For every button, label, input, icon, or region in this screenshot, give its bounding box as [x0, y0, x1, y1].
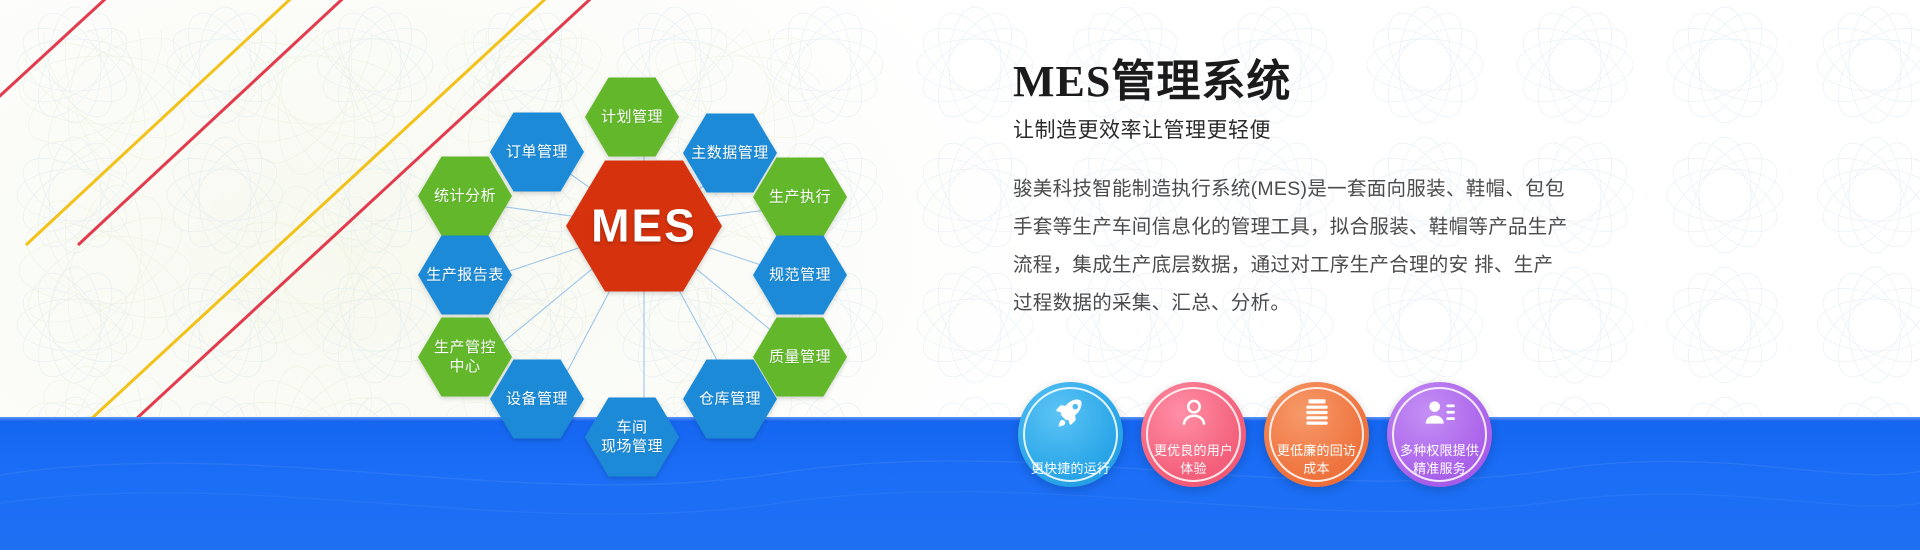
badge-better-user-experience[interactable]: 更优良的用户体验 [1141, 382, 1246, 487]
hex-workshop-site-management-shape[interactable] [585, 398, 679, 477]
center-hex-mes-shape[interactable] [566, 161, 722, 292]
description-paragraph: 骏美科技智能制造执行系统(MES)是一套面向服装、鞋帽、包包手套等生产车间信息化… [1013, 170, 1573, 322]
badge-better-user-experience-label: 更优良的用户体验 [1148, 442, 1240, 478]
hex-standard-management-shape[interactable] [753, 236, 847, 315]
copy-block: MES管理系统 让制造更效率让管理更轻便 骏美科技智能制造执行系统(MES)是一… [1013, 56, 1633, 322]
hex-production-control-center-shape[interactable] [418, 318, 512, 397]
mes-promo-banner: 计划管理订单管理主数据管理统计分析生产执行生产报告表规范管理生产管控中心质量管理… [0, 0, 1920, 550]
page-title: MES管理系统 [1013, 56, 1633, 108]
badge-multi-permission-service-label: 多种权限提供精准服务 [1394, 442, 1486, 478]
feature-badge-row: 更快捷的运行更优良的用户体验¥更低廉的回访成本多种权限提供精准服务 [1018, 382, 1492, 487]
badge-faster-operation-label: 更快捷的运行 [1025, 460, 1117, 478]
badge-faster-operation[interactable]: 更快捷的运行 [1018, 382, 1123, 487]
hex-statistical-analysis-shape[interactable] [418, 157, 512, 236]
mes-hexagon-diagram: 计划管理订单管理主数据管理统计分析生产执行生产报告表规范管理生产管控中心质量管理… [400, 18, 960, 518]
money-stack-icon: ¥ [1300, 396, 1334, 430]
hex-production-report-shape[interactable] [418, 236, 512, 315]
user-icon [1177, 396, 1211, 430]
user-list-icon [1423, 396, 1457, 430]
hex-plan-management-shape[interactable] [585, 78, 679, 157]
badge-multi-permission-service[interactable]: 多种权限提供精准服务 [1387, 382, 1492, 487]
badge-lower-revisit-cost-label: 更低廉的回访成本 [1271, 442, 1363, 478]
page-subtitle: 让制造更效率让管理更轻便 [1013, 114, 1633, 144]
hex-equipment-management-shape[interactable] [490, 360, 584, 439]
rocket-icon [1054, 396, 1088, 430]
band-wave-decoration [0, 417, 1920, 550]
badge-lower-revisit-cost[interactable]: ¥更低廉的回访成本 [1264, 382, 1369, 487]
hex-order-management-shape[interactable] [490, 113, 584, 192]
hexagon-canvas [400, 18, 960, 518]
